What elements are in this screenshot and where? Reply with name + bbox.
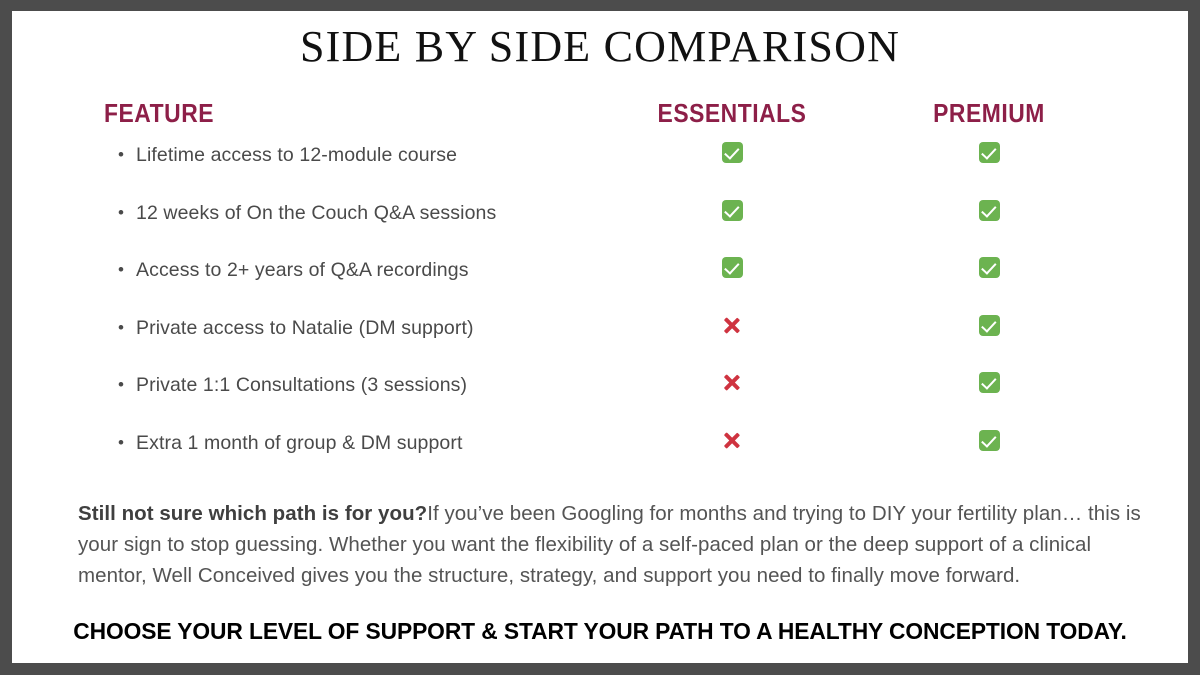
essentials-cell [600,371,864,400]
premium-cell [877,429,1101,458]
cross-mark-icon [721,371,744,394]
bullet-icon: • [118,141,124,170]
cta-headline: CHOOSE YOUR LEVEL OF SUPPORT & START YOU… [30,618,1171,645]
bullet-icon: • [118,429,124,458]
paragraph-lead-bold: Still not sure which path is for you? [78,502,427,525]
check-mark-button-icon [979,372,1000,393]
column-header-feature: FEATURE [104,98,214,129]
check-mark-button-icon [722,142,743,163]
column-header-premium: PREMIUM [890,98,1087,129]
feature-label: Extra 1 month of group & DM support [136,429,548,458]
page-title: SIDE BY SIDE COMPARISON [12,21,1188,72]
comparison-header-row: FEATURE ESSENTIALS PREMIUM [12,98,1188,130]
table-row: •Extra 1 month of group & DM support [12,429,1188,487]
premium-cell [877,199,1101,228]
check-mark-button-icon [979,142,1000,163]
feature-label: Private 1:1 Consultations (3 sessions) [136,371,548,400]
cross-mark-icon [721,429,744,452]
feature-cell: •Private access to Natalie (DM support) [118,314,548,343]
check-mark-button-icon [722,257,743,278]
table-row: •Access to 2+ years of Q&A recordings [12,256,1188,314]
feature-cell: •Lifetime access to 12-module course [118,141,548,170]
table-row: •Private access to Natalie (DM support) [12,314,1188,372]
premium-cell [877,371,1101,400]
table-row: •Private 1:1 Consultations (3 sessions) [12,371,1188,429]
feature-cell: •Access to 2+ years of Q&A recordings [118,256,548,285]
table-row: •12 weeks of On the Couch Q&A sessions [12,199,1188,257]
bullet-icon: • [118,199,124,228]
essentials-cell [600,199,864,228]
column-header-essentials: ESSENTIALS [616,98,848,129]
feature-label: Private access to Natalie (DM support) [136,314,548,343]
table-row: •Lifetime access to 12-module course [12,141,1188,199]
check-mark-button-icon [722,200,743,221]
slide-border-frame: SIDE BY SIDE COMPARISON FEATURE ESSENTIA… [0,0,1200,675]
bullet-icon: • [118,314,124,343]
feature-cell: •12 weeks of On the Couch Q&A sessions [118,199,548,228]
essentials-cell [600,256,864,285]
comparison-table: •Lifetime access to 12-module course•12 … [12,141,1188,486]
premium-cell [877,141,1101,170]
essentials-cell [600,141,864,170]
check-mark-button-icon [979,257,1000,278]
slide-canvas: SIDE BY SIDE COMPARISON FEATURE ESSENTIA… [12,11,1188,663]
bullet-icon: • [118,371,124,400]
premium-cell [877,256,1101,285]
check-mark-button-icon [979,315,1000,336]
premium-cell [877,314,1101,343]
cross-mark-icon [721,314,744,337]
essentials-cell [600,314,864,343]
feature-cell: •Extra 1 month of group & DM support [118,429,548,458]
feature-label: Access to 2+ years of Q&A recordings [136,256,548,285]
feature-cell: •Private 1:1 Consultations (3 sessions) [118,371,548,400]
essentials-cell [600,429,864,458]
feature-label: Lifetime access to 12-module course [136,141,548,170]
bullet-icon: • [118,256,124,285]
feature-label: 12 weeks of On the Couch Q&A sessions [136,199,548,228]
check-mark-button-icon [979,200,1000,221]
closing-paragraph: Still not sure which path is for you?If … [78,498,1160,591]
check-mark-button-icon [979,430,1000,451]
